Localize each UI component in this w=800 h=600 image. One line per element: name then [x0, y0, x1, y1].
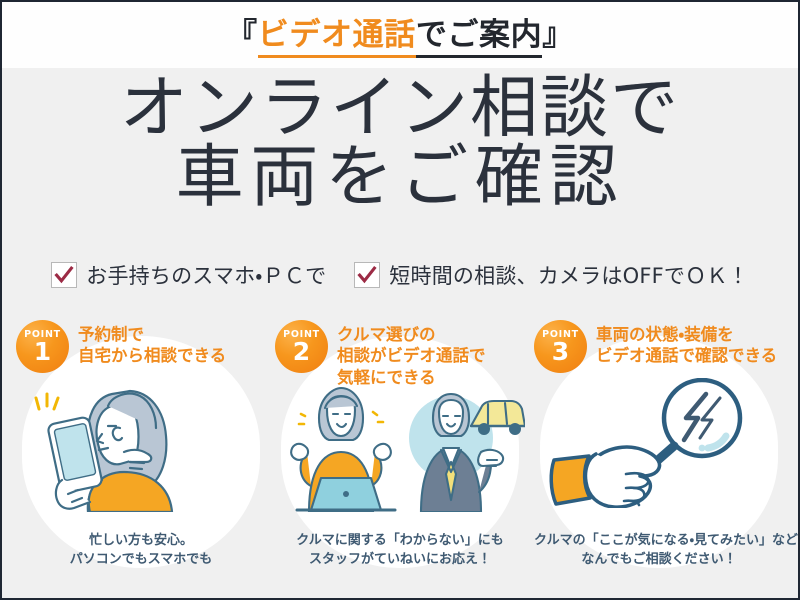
point-caption-line-2: なんでもご相談ください！ [534, 551, 784, 570]
headline-line-1: オンライン相談で [2, 74, 798, 143]
promo-banner: 『ビデオ通話でご案内』 オンライン相談で 車両をご確認 お手持ちのスマホ・ＰＣで… [0, 0, 800, 600]
checkmark-icon [354, 262, 380, 288]
point-badge-3: POINT 3 [534, 320, 587, 373]
point-title-2: クルマ選びの 相談がビデオ通話で 気軽にできる [337, 320, 486, 388]
point-badge-2: POINT 2 [275, 320, 328, 373]
feature-check-label-1: お手持ちのスマホ・ＰＣで [86, 260, 326, 290]
woman-with-smartphone-illustration [16, 376, 266, 512]
feature-check-row: お手持ちのスマホ・ＰＣで 短時間の相談、カメラはOFFでＯＫ！ [2, 260, 798, 290]
feature-check-label-2: 短時間の相談、カメラはOFFでＯＫ！ [389, 260, 748, 290]
point-badge-number: 2 [293, 340, 310, 363]
kicker-open-bracket: 『 [226, 17, 258, 53]
point-caption-3: クルマの「ここが気になる・見てみたい」など なんでもご相談ください！ [534, 532, 784, 570]
kicker-close-bracket: 』 [542, 17, 574, 53]
point-card-3: POINT 3 車両の状態・装備を ビデオ通話で確認できる [534, 320, 784, 576]
feature-check-item-1: お手持ちのスマホ・ＰＣで [51, 260, 326, 290]
kicker-plain: でご案内 [416, 17, 542, 58]
point-badge-1: POINT 1 [16, 320, 69, 373]
point-caption-line-1: 忙しい方も安心。 [16, 532, 266, 551]
point-title-line-1: 予約制で [78, 324, 226, 345]
point-caption-line-1: クルマに関する「わからない」にも [275, 532, 525, 551]
point-title-line-2: ビデオ通話で確認できる [596, 345, 777, 366]
point-title-line-1: クルマ選びの [337, 324, 486, 345]
point-title-1: 予約制で 自宅から相談できる [78, 320, 226, 367]
point-title-3: 車両の状態・装備を ビデオ通話で確認できる [596, 320, 777, 367]
kicker-highlight: ビデオ通話 [258, 17, 416, 58]
woman-at-laptop-and-salesman-with-car-illustration [275, 382, 525, 512]
point-header-3: POINT 3 車両の状態・装備を ビデオ通話で確認できる [534, 320, 777, 373]
kicker-text: 『ビデオ通話でご案内』 [226, 20, 574, 51]
point-title-line-3: 気軽にできる [337, 367, 486, 388]
page-title: オンライン相談で 車両をご確認 [2, 74, 798, 213]
point-badge-number: 1 [34, 340, 51, 363]
point-title-line-2: 相談がビデオ通話で [337, 345, 486, 366]
point-caption-line-2: パソコンでもスマホでも [16, 551, 266, 570]
point-card-2: POINT 2 クルマ選びの 相談がビデオ通話で 気軽にできる [275, 320, 525, 576]
point-caption-line-1: クルマの「ここが気になる・見てみたい」など [534, 532, 784, 551]
point-caption-2: クルマに関する「わからない」にも スタッフがていねいにお応え！ [275, 532, 525, 570]
headline-line-2: 車両をご確認 [2, 143, 798, 212]
point-caption-1: 忙しい方も安心。 パソコンでもスマホでも [16, 532, 266, 570]
point-header-2: POINT 2 クルマ選びの 相談がビデオ通話で 気軽にできる [275, 320, 486, 388]
checkmark-icon [51, 262, 77, 288]
point-title-line-1: 車両の状態・装備を [596, 324, 777, 345]
points-row: POINT 1 予約制で 自宅から相談できる [2, 320, 798, 582]
hand-holding-magnifying-glass-illustration [534, 378, 784, 508]
point-caption-line-2: スタッフがていねいにお応え！ [275, 551, 525, 570]
point-badge-number: 3 [552, 340, 569, 363]
point-card-1: POINT 1 予約制で 自宅から相談できる [16, 320, 266, 576]
point-title-line-2: 自宅から相談できる [78, 345, 226, 366]
feature-check-item-2: 短時間の相談、カメラはOFFでＯＫ！ [354, 260, 748, 290]
point-header-1: POINT 1 予約制で 自宅から相談できる [16, 320, 226, 373]
kicker-band: 『ビデオ通話でご案内』 [2, 2, 798, 68]
